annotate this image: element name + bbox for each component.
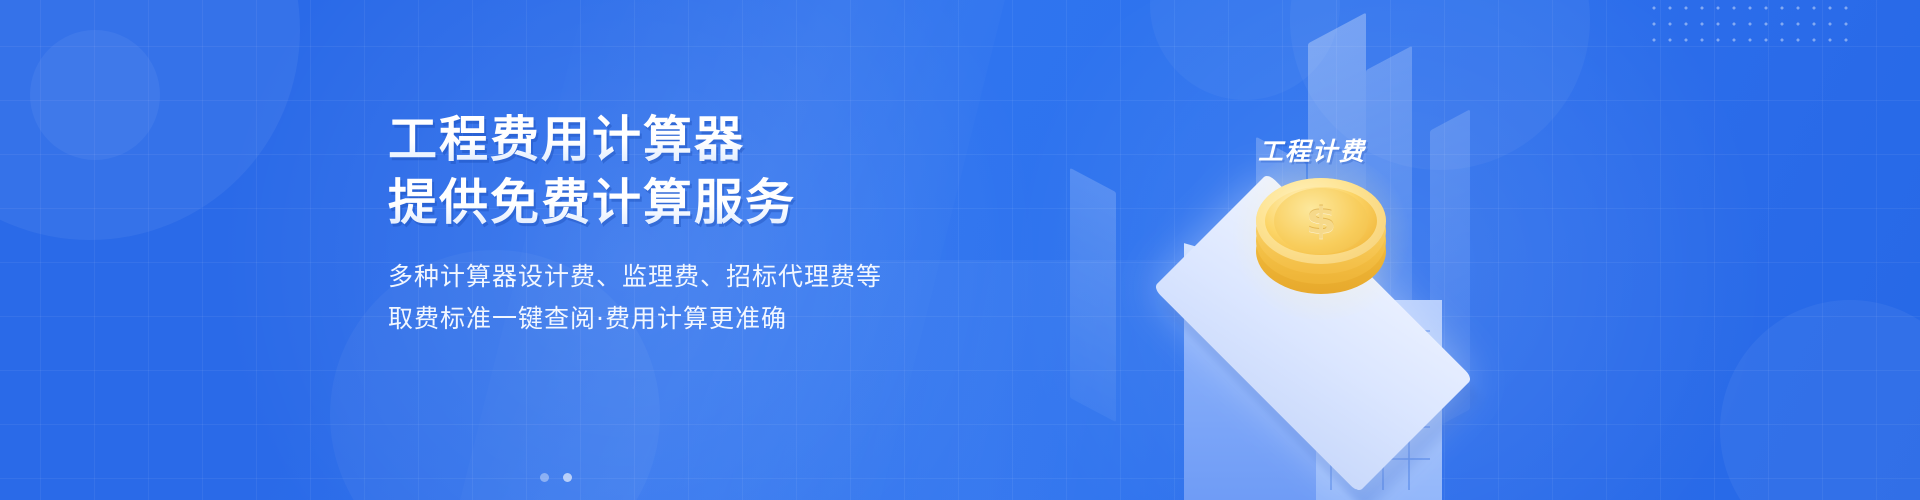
banner-illustration: $ 工程计费 — [1080, 0, 1560, 500]
carousel-dot-1[interactable] — [540, 473, 549, 482]
coin-stack-icon: $ — [1256, 178, 1386, 298]
decorative-dot-matrix — [1646, 0, 1856, 48]
promo-banner: 工程费用计算器 提供免费计算服务 多种计算器设计费、监理费、招标代理费等 取费标… — [0, 0, 1920, 500]
decorative-circle — [1720, 300, 1920, 500]
building-bar-icon — [1070, 168, 1116, 422]
banner-headline-line-2: 提供免费计算服务 — [388, 171, 1028, 234]
illustration-badge-label: 工程计费 — [1258, 132, 1366, 168]
decorative-circle — [0, 0, 300, 240]
decorative-circle — [30, 30, 160, 160]
coin-inner-face: $ — [1274, 188, 1368, 254]
coin-top-face: $ — [1256, 178, 1386, 264]
banner-subtitle-line-2: 取费标准一键查阅·费用计算更准确 — [388, 298, 1028, 340]
dollar-sign-icon: $ — [1306, 200, 1337, 242]
carousel-indicator[interactable] — [540, 473, 572, 482]
carousel-dot-2[interactable] — [563, 473, 572, 482]
banner-subtitle-line-1: 多种计算器设计费、监理费、招标代理费等 — [388, 256, 1028, 298]
banner-copy: 工程费用计算器 提供免费计算服务 多种计算器设计费、监理费、招标代理费等 取费标… — [388, 108, 1028, 340]
banner-headline-line-1: 工程费用计算器 — [388, 108, 1028, 171]
